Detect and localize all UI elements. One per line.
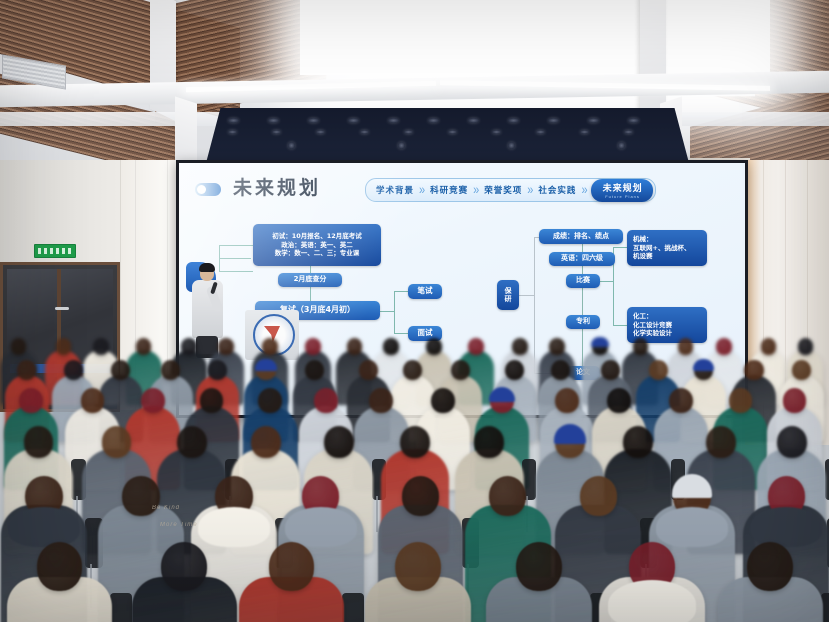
breadcrumb-item-3[interactable]: 社会实践	[534, 184, 580, 196]
audience-member-head	[177, 426, 207, 458]
ceiling-spotlight-icon	[624, 130, 633, 134]
node-first-exam-line-0: 初试：10月报名、12月底考试	[257, 232, 377, 241]
ceiling-spotlight-icon	[508, 142, 515, 149]
audience-member-hood	[285, 507, 357, 547]
ceiling-spotlight-icon	[548, 118, 559, 123]
chevron-right-icon: »	[472, 183, 480, 198]
node-first-exam-line-2: 数学：数一、二、三；专业课	[257, 249, 377, 258]
audience-member-head	[161, 360, 180, 380]
audience-member-head	[777, 426, 807, 458]
audience-member-head	[607, 388, 631, 413]
node-patent-label: 专利	[566, 317, 600, 326]
chevron-right-icon: »	[580, 183, 588, 198]
node-competition[interactable]: 比赛	[566, 274, 600, 288]
node-english-label: 英语：四六级	[549, 254, 615, 263]
ceiling	[0, 0, 829, 175]
audience-member-head	[314, 388, 338, 413]
breadcrumb: 学术背景 » 科研竞赛 » 荣誉奖项 » 社会实践 » 未来规划 Future …	[365, 178, 656, 202]
skylight-panel-glare	[300, 0, 770, 75]
audience-member-head	[383, 338, 399, 355]
ceiling-spotlight-icon	[428, 118, 439, 123]
breadcrumb-item-2[interactable]: 荣誉奖项	[480, 184, 526, 196]
audience-member-hood	[8, 507, 80, 547]
ceiling-spotlight-icon	[448, 130, 457, 134]
slide-header: 未来规划 学术背景 » 科研竞赛 » 荣誉奖项 » 社会实践 » 未来规划 Fu…	[189, 175, 737, 205]
audience-member-head	[305, 360, 324, 380]
audience-member-head	[359, 360, 378, 380]
audience-member-head	[262, 338, 278, 355]
audience-member-head	[549, 338, 565, 355]
audience-member-head	[729, 388, 753, 413]
chair	[342, 593, 364, 622]
audience-member-head	[706, 426, 736, 458]
node-score-release-label: 2月底查分	[278, 275, 342, 284]
audience-member-head	[580, 476, 617, 516]
connector-to-chem	[613, 325, 627, 326]
connector-score-to-round2	[310, 287, 311, 301]
ceiling-spotlight-icon	[580, 130, 589, 134]
hoodie-text-line-2: More Time	[160, 522, 198, 528]
node-grades[interactable]: 成绩：排名、绩点	[539, 229, 623, 244]
lecture-hall-photo: 未来规划 学术背景 » 科研竞赛 » 荣誉奖项 » 社会实践 » 未来规划 Fu…	[0, 0, 829, 622]
mech-line-2: 机设赛	[633, 252, 707, 261]
audience-member-hood	[750, 507, 822, 547]
breadcrumb-item-0[interactable]: 学术背景	[372, 184, 418, 196]
node-baoyan-line-1: 研	[497, 295, 519, 303]
audience-member-head	[251, 426, 281, 458]
breadcrumb-active-label-en: Future Plans	[603, 194, 643, 199]
audience-member-head	[181, 338, 197, 355]
connector-left-root	[219, 258, 251, 259]
ceiling-spotlight-icon	[398, 142, 405, 149]
audience-member-head	[258, 388, 282, 413]
audience-member-hood	[656, 507, 728, 547]
audience-member-head	[468, 338, 484, 355]
connector-to-written	[394, 291, 408, 292]
audience-member-head	[161, 542, 207, 591]
audience-member-head	[81, 388, 105, 413]
breadcrumb-active-label-zh: 未来规划	[603, 181, 643, 194]
ceiling-spotlight-icon	[492, 130, 501, 134]
node-written-exam[interactable]: 笔试	[408, 284, 442, 299]
node-mechanical-competitions[interactable]: 机械： 互联网+、挑战杯、 机设赛	[627, 230, 707, 266]
audience-member-cap	[591, 337, 609, 347]
audience-member-head	[747, 542, 793, 591]
audience-member-head	[102, 426, 132, 458]
audience-member-head	[17, 360, 36, 380]
breadcrumb-item-1[interactable]: 科研竞赛	[426, 184, 472, 196]
audience-member-head	[649, 360, 668, 380]
connector-left-up	[219, 245, 253, 246]
audience-member-head	[555, 388, 579, 413]
audience	[0, 330, 829, 622]
dark-recessed-spotlight-tray	[206, 108, 689, 163]
audience-member-head	[431, 388, 455, 413]
node-english[interactable]: 英语：四六级	[549, 252, 615, 266]
connector-to-mech	[613, 247, 627, 248]
ceiling-spotlight-icon	[628, 118, 639, 123]
ceiling-spotlight-icon	[308, 118, 319, 123]
ceiling-spotlight-icon	[316, 130, 325, 134]
audience-member-head	[136, 338, 152, 355]
audience-member-head	[426, 338, 442, 355]
audience-member-head	[678, 338, 694, 355]
ceiling-spotlight-icon	[508, 118, 519, 123]
audience-member-head	[37, 542, 83, 591]
audience-member-head	[369, 388, 393, 413]
node-first-exam[interactable]: 初试：10月报名、12月底考试 政治：英语：英一、英二 数学：数一、二、三；专业…	[253, 224, 381, 266]
audience-member-head	[269, 542, 315, 591]
chevron-right-icon: »	[526, 183, 534, 198]
exit-sign-icon	[34, 244, 76, 258]
audience-member-head	[208, 360, 227, 380]
connector-round2-split	[394, 291, 395, 333]
audience-member-head	[761, 338, 777, 355]
audience-member-head	[551, 360, 570, 380]
audience-member-head	[633, 338, 649, 355]
audience-member-head	[218, 338, 234, 355]
audience-member-head	[400, 426, 430, 458]
audience-member-head	[64, 360, 83, 380]
audience-member-head	[324, 426, 354, 458]
ceiling-spotlight-icon	[348, 118, 359, 123]
mech-line-0: 机械：	[633, 235, 707, 244]
audience-member-head	[489, 476, 526, 516]
audience-member-cap	[255, 359, 276, 371]
audience-member-head	[744, 360, 763, 380]
node-competition-label: 比赛	[566, 276, 600, 285]
connector-comp-out	[599, 281, 613, 282]
node-score-release[interactable]: 2月底查分	[278, 273, 342, 287]
breadcrumb-item-active[interactable]: 未来规划 Future Plans	[591, 179, 653, 202]
slide-title: 未来规划	[233, 173, 321, 200]
audience-member-head	[11, 338, 27, 355]
audience-member-head	[19, 388, 43, 413]
audience-member-head	[24, 426, 54, 458]
toggle-switch-icon	[195, 183, 221, 196]
audience-member-head	[347, 338, 363, 355]
audience-member-head	[798, 338, 814, 355]
audience-member-head	[305, 338, 321, 355]
chem-line-0: 化工：	[633, 312, 707, 321]
ceiling-spotlight-icon	[288, 142, 295, 149]
ceiling-spotlight-icon	[272, 130, 281, 134]
node-grades-label: 成绩：排名、绩点	[539, 232, 623, 241]
hoodie-text-line-1: Be Kind	[152, 505, 180, 511]
node-recommended-postgrad[interactable]: 保 研	[497, 280, 519, 310]
connector-round2-out	[380, 311, 394, 312]
connector-to-baoyan	[519, 295, 535, 296]
chair	[110, 593, 132, 622]
ceiling-spotlight-icon	[404, 130, 413, 134]
audience-member-head	[451, 360, 470, 380]
audience-member-head	[56, 338, 72, 355]
audience-member-head	[200, 388, 224, 413]
audience-member-hood	[198, 507, 270, 547]
ceiling-spotlight-icon	[228, 118, 239, 123]
audience-member-head	[623, 426, 653, 458]
audience-member-head	[716, 338, 732, 355]
chair-leg	[376, 496, 378, 531]
audience-member-hood	[608, 580, 696, 622]
ceiling-spotlight-icon	[268, 118, 279, 123]
chevron-right-icon: »	[418, 183, 426, 198]
node-baoyan-line-0: 保	[497, 287, 519, 295]
audience-member-head	[669, 388, 693, 413]
audience-member-head	[402, 476, 439, 516]
audience-member-head	[601, 360, 620, 380]
audience-member-head	[395, 542, 441, 591]
ceiling-spotlight-icon	[360, 130, 369, 134]
ceiling-spotlight-icon	[588, 118, 599, 123]
audience-member-head	[512, 338, 528, 355]
audience-member-head	[792, 360, 811, 380]
ceiling-spotlight-icon	[536, 130, 545, 134]
ceiling-spotlight-icon	[468, 118, 479, 123]
audience-member-head	[93, 338, 109, 355]
audience-member-head	[111, 360, 130, 380]
presenter-hair	[199, 263, 215, 272]
audience-member-head	[516, 542, 562, 591]
door-handle[interactable]	[55, 307, 69, 310]
audience-member-head	[474, 426, 504, 458]
ceiling-spotlight-icon	[388, 118, 399, 123]
ceiling-spotlight-icon	[228, 130, 237, 134]
node-written-exam-label: 笔试	[408, 286, 442, 296]
node-patent[interactable]: 专利	[566, 315, 600, 329]
audience-member-head	[141, 388, 165, 413]
ceiling-spotlight-icon	[618, 142, 625, 149]
audience-member-head	[783, 388, 807, 413]
